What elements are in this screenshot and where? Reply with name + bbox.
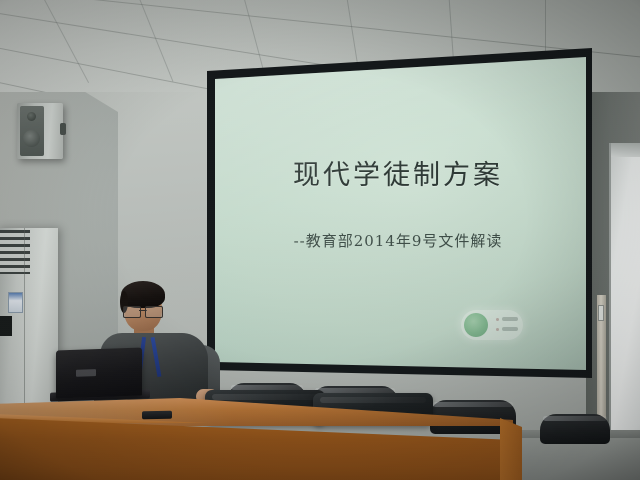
whiteboard	[609, 143, 640, 463]
projection-screen-surface	[203, 48, 593, 393]
ac-vent-louvers	[0, 230, 30, 274]
glasses-icon	[123, 306, 163, 316]
floor	[520, 438, 640, 480]
ac-display-panel	[0, 316, 12, 336]
whiteboard-clip	[598, 305, 604, 321]
laptop-brand-logo	[76, 369, 96, 377]
classroom-photo-scene: 现代学徒制方案 --教育部2014年9号文件解读	[0, 0, 640, 480]
handheld-device[interactable]	[142, 411, 172, 420]
chair	[540, 414, 610, 444]
wall-speaker	[17, 103, 63, 159]
laptop[interactable]	[56, 347, 142, 398]
ac-label	[8, 292, 23, 313]
